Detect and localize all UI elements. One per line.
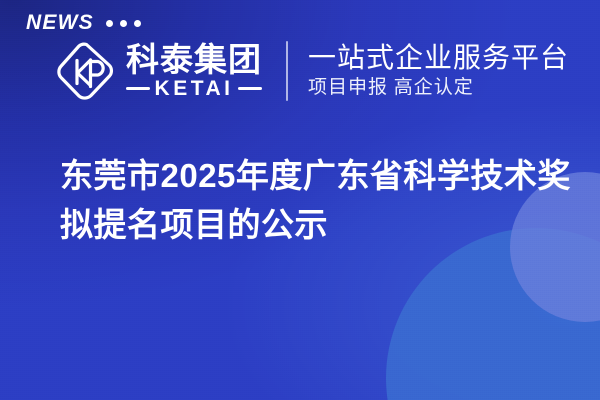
eyebrow-dots-icon — [106, 20, 141, 27]
wordmark-chinese: 科泰集团 — [126, 43, 262, 77]
logo-lockup: 科泰集团 KETAI 一站式企业服务平台 项目申报 高企认定 — [56, 40, 569, 102]
tagline: 一站式企业服务平台 项目申报 高企认定 — [308, 42, 569, 100]
eyebrow-label: NEWS — [26, 12, 94, 33]
tagline-main: 一站式企业服务平台 — [308, 42, 569, 73]
brand-logo: 科泰集团 KETAI — [56, 40, 262, 102]
dot-icon — [106, 20, 113, 27]
dot-icon — [134, 20, 141, 27]
eyebrow: NEWS — [26, 12, 141, 33]
banner-content: NEWS 科泰集团 — [0, 0, 600, 400]
wordmark-rule-right — [238, 87, 262, 90]
vertical-divider — [286, 41, 288, 101]
wordmark-rule-left — [126, 87, 150, 90]
wordmark: 科泰集团 KETAI — [126, 43, 262, 99]
wordmark-english: KETAI — [155, 78, 234, 99]
page-title: 东莞市2025年度广东省科学技术奖拟提名项目的公示 — [60, 152, 580, 250]
tagline-sub: 项目申报 高企认定 — [308, 77, 569, 100]
dot-icon — [120, 20, 127, 27]
ketai-kp-diamond-logo-icon — [56, 40, 116, 102]
news-banner: NEWS 科泰集团 — [0, 0, 600, 400]
wordmark-english-row: KETAI — [126, 78, 262, 99]
